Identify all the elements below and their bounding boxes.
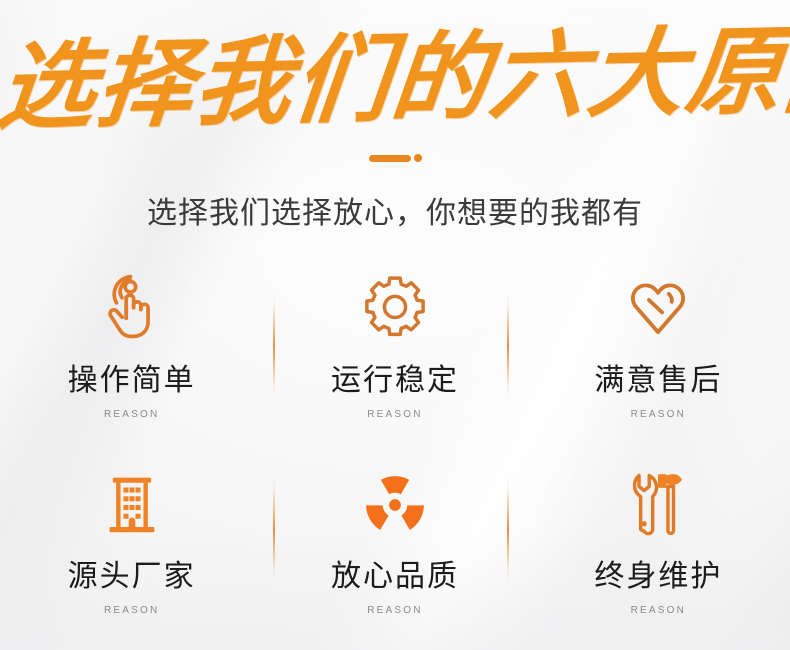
wrench-hammer-icon	[617, 464, 699, 546]
feature-label: 操作简单	[68, 364, 196, 397]
feature-sublabel: REASON	[631, 410, 686, 420]
divider-dot	[414, 154, 422, 162]
feature-sublabel: REASON	[367, 606, 422, 616]
feature-label: 运行稳定	[331, 364, 459, 397]
poster-subtitle: 选择我们选择放心，你想要的我都有	[0, 194, 790, 235]
gear-icon	[354, 268, 436, 350]
poster-content: 选择我们的六大原因 选择我们选择放心，你想要的我都有	[0, 0, 790, 650]
promo-poster: 选择我们的六大原因 选择我们选择放心，你想要的我都有	[0, 0, 790, 650]
feature-cell-reliable-quality: 放心品质 REASON	[263, 454, 526, 650]
feature-sublabel: REASON	[104, 606, 159, 616]
feature-sublabel: REASON	[631, 606, 686, 616]
feature-cell-satisfying-service: 满意售后 REASON	[527, 258, 790, 454]
feature-cell-stable-operation: 运行稳定 REASON	[263, 258, 526, 454]
feature-grid: 操作简单 REASON 运行稳定 REASON	[0, 258, 790, 650]
feature-cell-lifetime-maintenance: 终身维护 REASON	[527, 454, 790, 650]
divider-bar	[369, 155, 411, 162]
feature-label: 放心品质	[331, 560, 459, 593]
hand-tap-icon	[91, 268, 173, 350]
feature-label: 终身维护	[594, 560, 722, 593]
factory-building-icon	[91, 464, 173, 546]
feature-sublabel: REASON	[104, 410, 159, 420]
radiation-trefoil-icon	[354, 464, 436, 546]
feature-sublabel: REASON	[367, 410, 422, 420]
heart-icon	[617, 268, 699, 350]
poster-headline: 选择我们的六大原因	[0, 18, 790, 140]
headline-divider	[0, 151, 790, 165]
feature-label: 源头厂家	[68, 560, 196, 593]
feature-label: 满意售后	[594, 364, 722, 397]
feature-cell-source-factory: 源头厂家 REASON	[0, 454, 263, 650]
feature-cell-operation-simple: 操作简单 REASON	[0, 258, 263, 454]
